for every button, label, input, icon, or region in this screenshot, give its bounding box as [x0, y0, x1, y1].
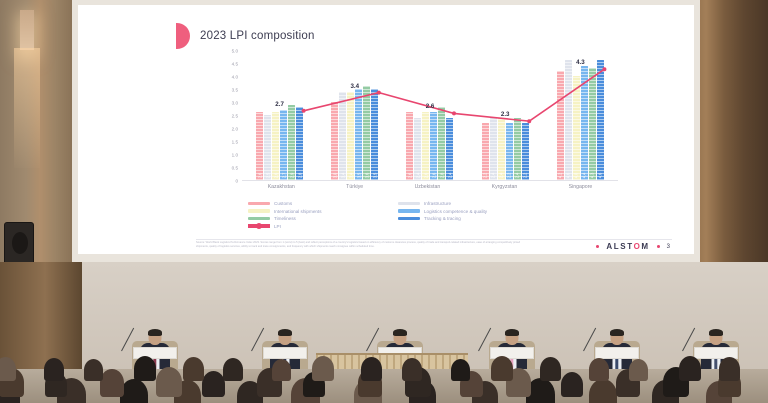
brand-footer: ALSTOM 3	[596, 242, 670, 251]
lpi-point-label: 2.7	[275, 101, 284, 108]
bar-value-label: 2.6	[257, 173, 262, 179]
wall-sconce-glow	[14, 48, 40, 168]
legend-item: Logistics competence & quality	[398, 209, 538, 214]
x-axis-label: Türkiye	[346, 184, 363, 190]
legend-label: Timeliness	[274, 216, 296, 221]
audience-member	[134, 356, 156, 381]
audience-seating	[0, 331, 768, 403]
legend-swatch	[398, 202, 420, 205]
legend-item: International shipments	[248, 209, 388, 214]
y-axis-tick: 0	[235, 179, 238, 184]
audience-member	[84, 359, 103, 381]
y-axis-tick: 0.5	[232, 166, 238, 171]
y-axis-tick: 1.0	[232, 153, 238, 158]
audience-member	[183, 357, 204, 381]
audience-member	[272, 359, 291, 381]
y-axis-tick: 2.5	[232, 114, 238, 119]
slide-page-number: 3	[667, 244, 670, 250]
audience-member	[589, 358, 609, 381]
legend-line-swatch	[248, 224, 270, 227]
slide-header: 2023 LPI composition	[176, 23, 315, 49]
audience-member	[120, 379, 148, 403]
legend-item: Infrastructure	[398, 201, 538, 206]
y-axis-tick: 3.0	[232, 101, 238, 106]
audience-member	[540, 357, 561, 381]
x-axis-label: Uzbekistan	[415, 184, 441, 190]
audience-member	[719, 357, 740, 381]
legend-label: Infrastructure	[424, 201, 451, 206]
audience-member	[561, 372, 583, 397]
x-axis-label: Kazakhstan	[268, 184, 295, 190]
legend-item: LPI	[248, 224, 388, 229]
x-axis-label: Kyrgyzstan	[492, 184, 518, 190]
presentation-slide: 2023 LPI composition 5.04.54.03.53.02.52…	[78, 5, 694, 254]
lpi-line-series	[266, 51, 642, 181]
audience-member	[156, 367, 182, 397]
chart-y-axis: 5.04.54.03.53.02.52.01.51.00.50	[218, 51, 240, 181]
audience-member	[223, 358, 243, 381]
legend-swatch	[398, 217, 420, 220]
legend-swatch	[398, 209, 420, 212]
lpi-marker	[302, 109, 306, 113]
footer-divider	[196, 239, 672, 240]
legend-swatch	[248, 209, 270, 212]
slide-footnote: Source: World Bank Logistics Performance…	[196, 241, 526, 249]
audience-member	[679, 356, 701, 381]
audience-member	[589, 379, 617, 403]
projection-screen: 2023 LPI composition 5.04.54.03.53.02.52…	[72, 0, 700, 262]
legend-item: Customs	[248, 201, 388, 206]
legend-spacer	[398, 224, 538, 229]
lpi-point-label: 2.6	[426, 103, 435, 110]
alstom-logo: ALSTOM	[606, 242, 649, 251]
lpi-marker	[602, 67, 606, 71]
audience-member	[629, 359, 648, 381]
brand-dot-left-icon	[596, 245, 599, 248]
audience-member	[202, 371, 225, 397]
audience-member	[312, 356, 334, 381]
audience-member	[451, 359, 470, 381]
lpi-composition-chart: 5.04.54.03.53.02.52.01.51.00.50 2.62.52.…	[218, 51, 618, 199]
y-axis-tick: 5.0	[232, 49, 238, 54]
stage-area	[0, 262, 768, 403]
legend-label: Tracking & tracing	[424, 216, 461, 221]
pa-speaker	[4, 222, 34, 266]
audience-member	[361, 357, 382, 381]
lpi-marker	[452, 111, 456, 115]
lpi-point-label: 3.4	[350, 83, 359, 90]
legend-swatch	[248, 202, 270, 205]
half-disc-icon	[176, 23, 190, 49]
conference-room-scene: 2023 LPI composition 5.04.54.03.53.02.52…	[0, 0, 768, 403]
page-title: 2023 LPI composition	[200, 30, 315, 42]
audience-member	[44, 358, 64, 381]
lpi-marker	[377, 91, 381, 95]
y-axis-tick: 4.0	[232, 75, 238, 80]
y-axis-tick: 3.5	[232, 88, 238, 93]
legend-label: LPI	[274, 224, 281, 229]
audience-member	[100, 369, 124, 397]
legend-label: Customs	[274, 201, 292, 206]
lpi-marker	[527, 119, 531, 123]
y-axis-tick: 4.5	[232, 62, 238, 67]
audience-member	[402, 358, 422, 381]
legend-item: Timeliness	[248, 216, 388, 221]
audience-member	[491, 356, 513, 381]
y-axis-tick: 1.5	[232, 140, 238, 145]
chart-plot-area: 2.62.52.62.72.92.83.03.43.43.53.63.52.62…	[242, 51, 618, 181]
legend-label: International shipments	[274, 209, 322, 214]
lpi-point-label: 2.3	[501, 111, 510, 118]
chart-bar: 2.6	[256, 112, 263, 180]
x-axis-label: Singapore	[569, 184, 593, 190]
y-axis-tick: 2.0	[232, 127, 238, 132]
chart-legend: CustomsInfrastructureInternational shipm…	[248, 201, 538, 229]
wall-sconce-light	[20, 10, 34, 50]
legend-swatch	[248, 217, 270, 220]
legend-item: Tracking & tracing	[398, 216, 538, 221]
chart-x-axis-labels: KazakhstanTürkiyeUzbekistanKyrgyzstanSin…	[242, 184, 618, 190]
brand-dot-right-icon	[657, 245, 660, 248]
audience-member	[0, 357, 16, 381]
lpi-point-label: 4.3	[576, 59, 585, 66]
legend-label: Logistics competence & quality	[424, 209, 487, 214]
